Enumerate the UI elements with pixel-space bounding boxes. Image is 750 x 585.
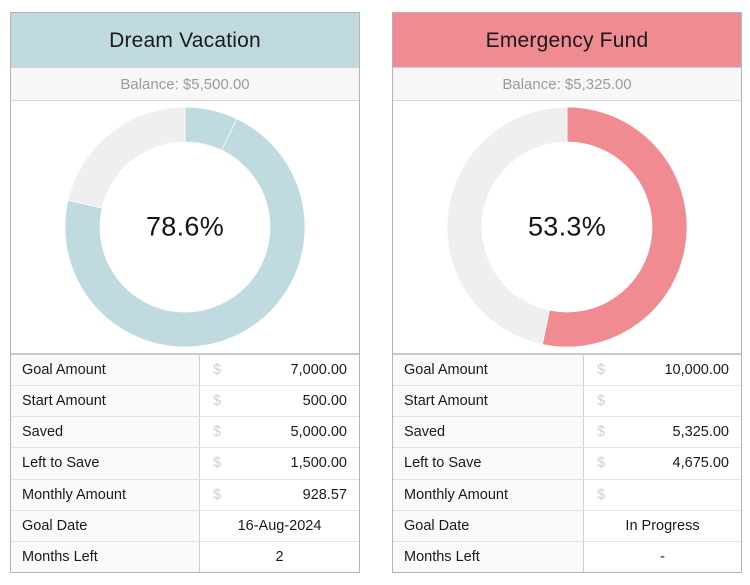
savings-goals-board: Dream VacationBalance: $5,500.0078.6%Goa…: [0, 0, 750, 585]
row-text-value: 2: [200, 549, 359, 565]
balance-label: Balance: $5,325.00: [502, 76, 631, 93]
currency-symbol: $: [200, 362, 234, 378]
currency-symbol: $: [200, 487, 234, 503]
currency-symbol: $: [200, 424, 234, 440]
currency-symbol: $: [584, 487, 618, 503]
table-row: Saved$5,325.00: [393, 417, 741, 448]
row-value-cell: $500.00: [200, 386, 359, 416]
row-label: Saved: [393, 417, 584, 447]
table-row: Goal DateIn Progress: [393, 511, 741, 542]
currency-symbol: $: [200, 393, 234, 409]
stats-table: Goal Amount$10,000.00Start Amount$Saved$…: [393, 354, 741, 572]
table-row: Left to Save$1,500.00: [11, 448, 359, 479]
donut-segment: [447, 107, 567, 344]
row-value-cell: $1,500.00: [200, 448, 359, 478]
table-row: Monthly Amount$: [393, 480, 741, 511]
currency-symbol: $: [200, 455, 234, 471]
row-value-cell: $5,000.00: [200, 417, 359, 447]
card-header-emergency-fund: Emergency Fund: [393, 13, 741, 68]
currency-symbol: $: [584, 424, 618, 440]
currency-symbol: $: [584, 455, 618, 471]
row-text-value: 16-Aug-2024: [200, 518, 359, 534]
row-amount: 500.00: [234, 393, 347, 409]
row-amount: 928.57: [234, 487, 347, 503]
row-label: Goal Date: [11, 511, 200, 541]
progress-donut-chart: 53.3%: [393, 101, 741, 354]
table-row: Start Amount$: [393, 386, 741, 417]
row-label: Start Amount: [393, 386, 584, 416]
row-value-cell: 16-Aug-2024: [200, 511, 359, 541]
table-row: Goal Date16-Aug-2024: [11, 511, 359, 542]
row-label: Left to Save: [11, 448, 200, 478]
row-text-value: In Progress: [584, 518, 741, 534]
row-value-cell: $10,000.00: [584, 355, 741, 385]
currency-symbol: $: [584, 362, 618, 378]
table-row: Months Left2: [11, 542, 359, 572]
row-label: Monthly Amount: [11, 480, 200, 510]
row-text-value: -: [584, 549, 741, 565]
balance-row: Balance: $5,325.00: [393, 68, 741, 101]
row-label: Goal Amount: [11, 355, 200, 385]
card-header-dream-vacation: Dream Vacation: [11, 13, 359, 68]
balance-row: Balance: $5,500.00: [11, 68, 359, 101]
row-value-cell: 2: [200, 542, 359, 572]
donut-segment: [542, 107, 687, 347]
row-label: Left to Save: [393, 448, 584, 478]
row-amount: 7,000.00: [234, 362, 347, 378]
table-row: Saved$5,000.00: [11, 417, 359, 448]
row-value-cell: -: [584, 542, 741, 572]
card-title: Emergency Fund: [486, 30, 649, 51]
row-value-cell: $: [584, 480, 741, 510]
row-value-cell: In Progress: [584, 511, 741, 541]
row-label: Saved: [11, 417, 200, 447]
row-amount: 4,675.00: [618, 455, 729, 471]
table-row: Start Amount$500.00: [11, 386, 359, 417]
row-amount: 5,000.00: [234, 424, 347, 440]
row-amount: 5,325.00: [618, 424, 729, 440]
row-value-cell: $928.57: [200, 480, 359, 510]
progress-donut-chart: 78.6%: [11, 101, 359, 354]
goal-card-dream-vacation: Dream VacationBalance: $5,500.0078.6%Goa…: [10, 12, 360, 573]
row-label: Goal Date: [393, 511, 584, 541]
table-row: Months Left-: [393, 542, 741, 572]
row-value-cell: $: [584, 386, 741, 416]
table-row: Monthly Amount$928.57: [11, 480, 359, 511]
goal-card-emergency-fund: Emergency FundBalance: $5,325.0053.3%Goa…: [392, 12, 742, 573]
row-label: Monthly Amount: [393, 480, 584, 510]
table-row: Goal Amount$10,000.00: [393, 355, 741, 386]
balance-label: Balance: $5,500.00: [120, 76, 249, 93]
row-value-cell: $7,000.00: [200, 355, 359, 385]
table-row: Goal Amount$7,000.00: [11, 355, 359, 386]
row-label: Start Amount: [11, 386, 200, 416]
donut-segment: [68, 107, 185, 208]
donut-wrap: 78.6%: [62, 104, 308, 350]
row-label: Months Left: [393, 542, 584, 572]
row-value-cell: $4,675.00: [584, 448, 741, 478]
row-label: Months Left: [11, 542, 200, 572]
row-label: Goal Amount: [393, 355, 584, 385]
table-row: Left to Save$4,675.00: [393, 448, 741, 479]
row-amount: 1,500.00: [234, 455, 347, 471]
card-title: Dream Vacation: [109, 30, 261, 51]
stats-table: Goal Amount$7,000.00Start Amount$500.00S…: [11, 354, 359, 572]
row-value-cell: $5,325.00: [584, 417, 741, 447]
row-amount: 10,000.00: [618, 362, 729, 378]
donut-wrap: 53.3%: [444, 104, 690, 350]
currency-symbol: $: [584, 393, 618, 409]
